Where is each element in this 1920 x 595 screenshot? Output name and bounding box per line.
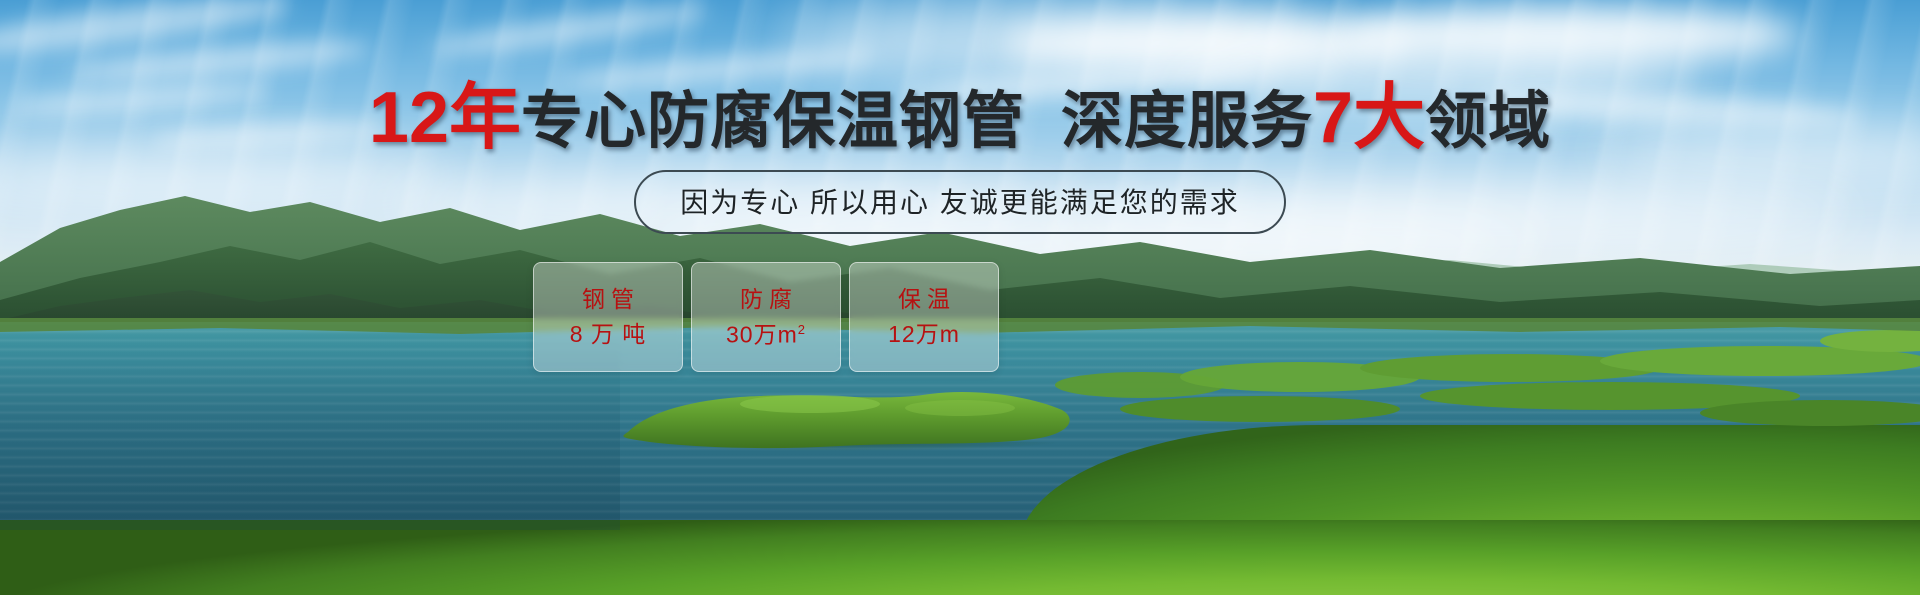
stat-label-anticorrosion: 防腐: [734, 288, 798, 311]
stat-unit-superscript-anticorrosion: 2: [798, 322, 806, 337]
stat-label-insulation: 保温: [892, 288, 956, 311]
headline-service-text: 深度服务: [1061, 87, 1313, 156]
headline-years-highlight: 12年: [369, 78, 521, 158]
stat-value-insulation-text: 12万m: [888, 321, 960, 347]
banner-content: 12年专心防腐保温钢管深度服务7大领域 因为专心 所以用心 友诚更能满足您的需求…: [0, 0, 1920, 595]
stat-value-steel-pipe-text: 8 万 吨: [570, 321, 647, 347]
banner-headline: 12年专心防腐保温钢管深度服务7大领域: [0, 82, 1920, 154]
stat-value-steel-pipe: 8 万 吨: [570, 323, 647, 346]
banner-subtitle-pill: 因为专心 所以用心 友诚更能满足您的需求: [634, 170, 1286, 234]
stat-value-insulation: 12万m: [888, 323, 960, 346]
stat-card-anticorrosion: 防腐 30万m2: [691, 262, 841, 372]
banner-subtitle-wrapper: 因为专心 所以用心 友诚更能满足您的需求: [0, 170, 1920, 234]
stat-value-anticorrosion-text: 30万m: [726, 321, 798, 347]
stats-card-group: 钢管 8 万 吨 防腐 30万m2 保温 12万m: [533, 262, 999, 372]
headline-fields-highlight: 7大: [1313, 78, 1425, 158]
headline-fields-text: 领域: [1425, 87, 1551, 156]
stat-card-steel-pipe: 钢管 8 万 吨: [533, 262, 683, 372]
stat-label-steel-pipe: 钢管: [576, 288, 640, 311]
stat-card-insulation: 保温 12万m: [849, 262, 999, 372]
hero-banner: 12年专心防腐保温钢管深度服务7大领域 因为专心 所以用心 友诚更能满足您的需求…: [0, 0, 1920, 595]
headline-main-text: 专心防腐保温钢管: [521, 87, 1025, 156]
stat-value-anticorrosion: 30万m2: [726, 323, 806, 347]
